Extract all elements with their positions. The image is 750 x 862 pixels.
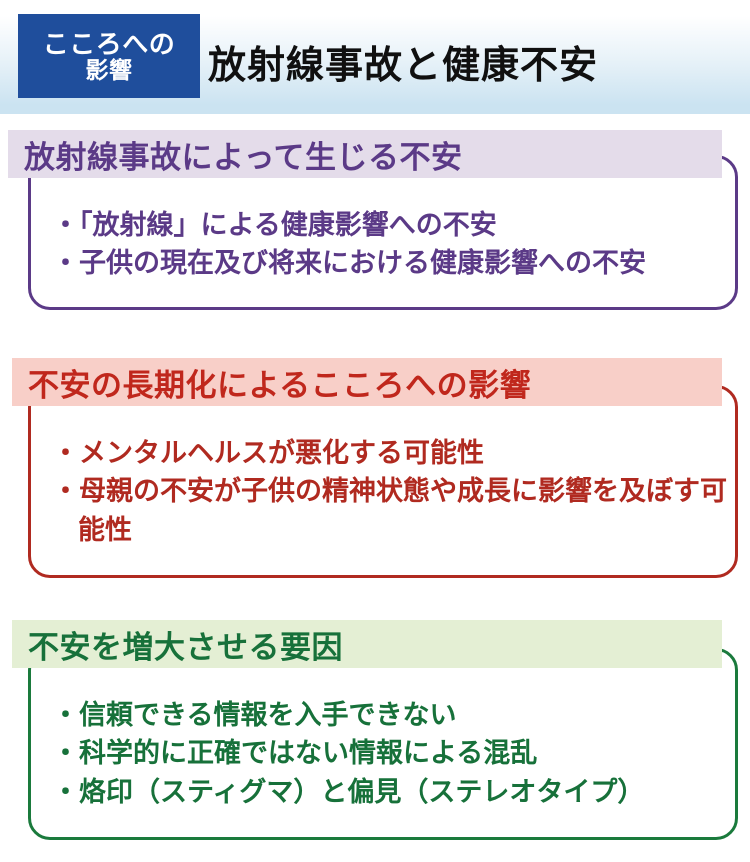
page-title: 放射線事故と健康不安 <box>208 34 598 89</box>
list-item: ・メンタルヘルスが悪化する可能性 <box>52 434 738 472</box>
section-longterm-body: ・メンタルヘルスが悪化する可能性 ・母親の不安が子供の精神状態や成長に影響を及ぼ… <box>52 434 738 549</box>
section-factors-body: ・信頼できる情報を入手できない ・科学的に正確ではない情報による混乱 ・烙印（ス… <box>52 696 738 811</box>
list-item: ・科学的に正確ではない情報による混乱 <box>52 734 738 772</box>
topic-badge: こころへの 影響 <box>18 14 200 98</box>
header-band: こころへの 影響 放射線事故と健康不安 <box>0 0 750 114</box>
list-item: ・子供の現在及び将来における健康影響への不安 <box>52 244 738 282</box>
list-item: ・「放射線」による健康影響への不安 <box>52 206 738 244</box>
topic-badge-line1: こころへの <box>43 30 176 58</box>
list-item: ・烙印（スティグマ）と偏見（ステレオタイプ） <box>52 773 738 811</box>
section-longterm-heading: 不安の長期化によるこころへの影響 <box>12 358 722 406</box>
list-item: ・母親の不安が子供の精神状態や成長に影響を及ぼす可能性 <box>52 472 738 549</box>
slide-root: こころへの 影響 放射線事故と健康不安 ・「放射線」による健康影響への不安 ・子… <box>0 0 750 862</box>
section-factors-heading: 不安を増大させる要因 <box>12 620 722 668</box>
list-item: ・信頼できる情報を入手できない <box>52 696 738 734</box>
topic-badge-line2: 影響 <box>86 58 133 83</box>
section-anxiety-heading: 放射線事故によって生じる不安 <box>8 130 722 178</box>
section-anxiety-body: ・「放射線」による健康影響への不安 ・子供の現在及び将来における健康影響への不安 <box>52 206 738 283</box>
